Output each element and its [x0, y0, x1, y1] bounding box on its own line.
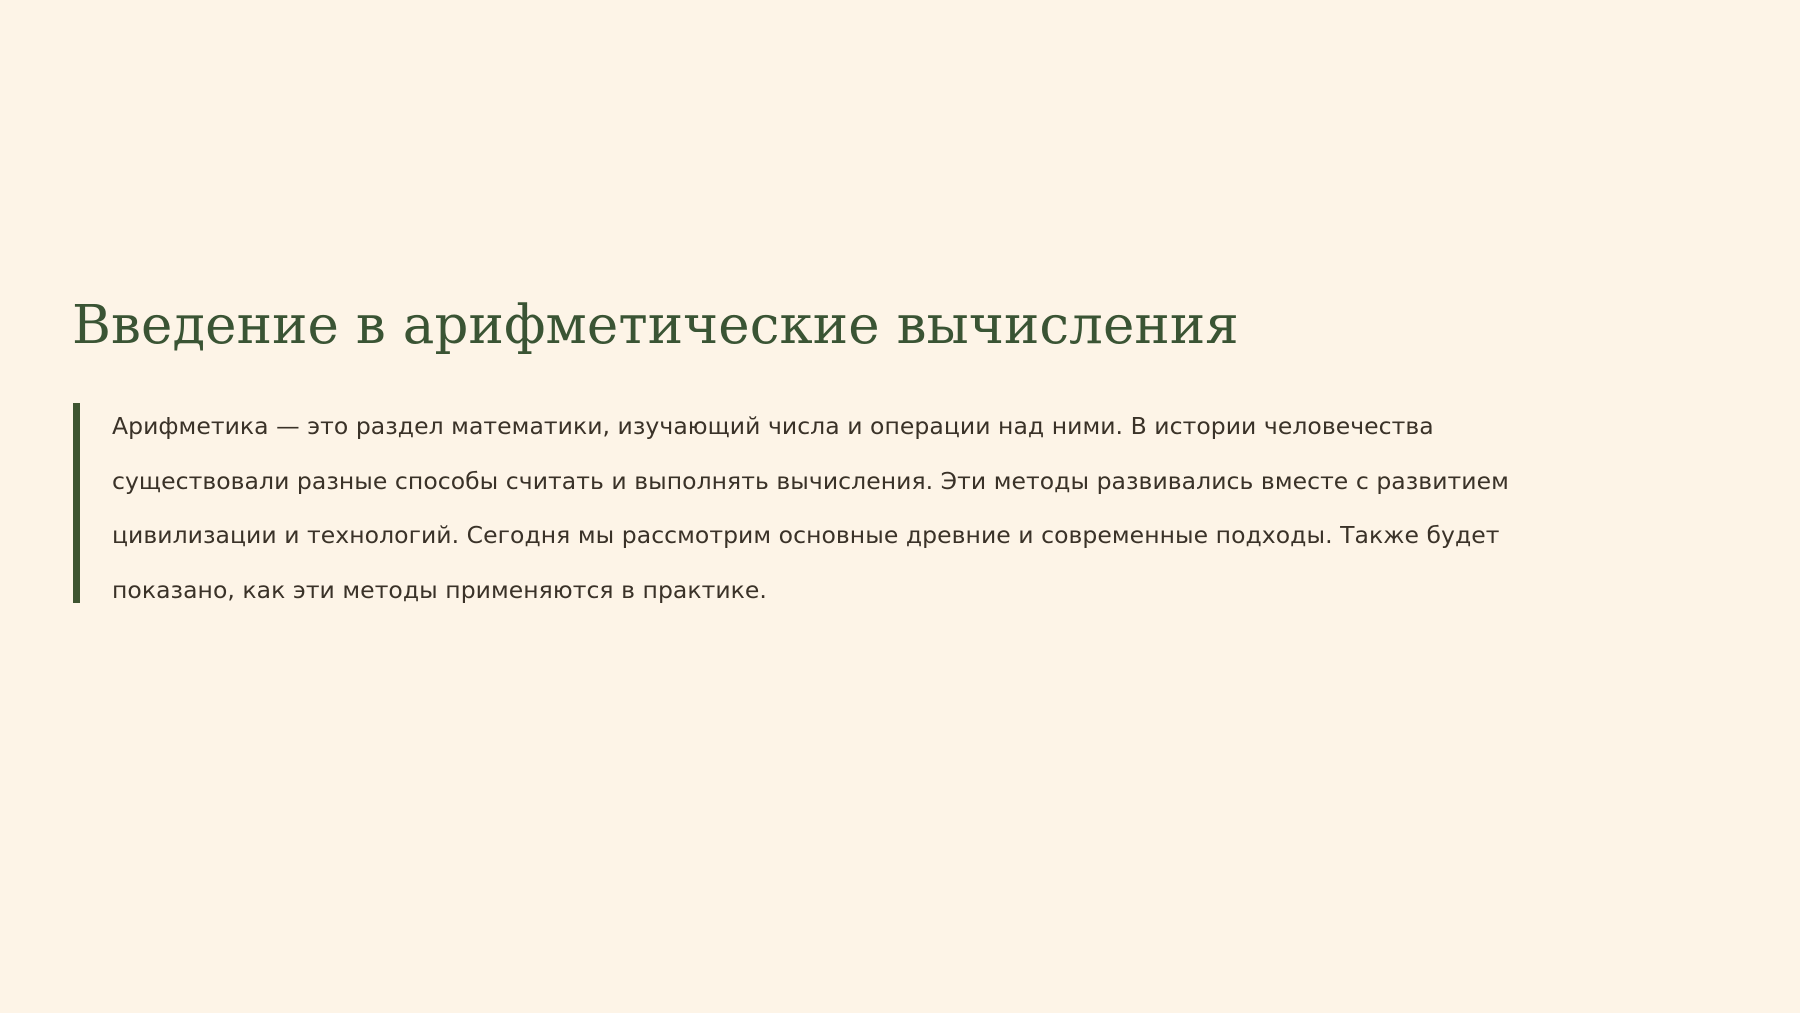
slide-content: Введение в арифметические вычисления Ари…	[72, 296, 1752, 617]
callout-block: Арифметика — это раздел математики, изуч…	[72, 399, 1752, 617]
accent-bar	[73, 403, 80, 603]
page-title: Введение в арифметические вычисления	[72, 296, 1752, 355]
callout-paragraph: Арифметика — это раздел математики, изуч…	[112, 399, 1524, 617]
slide: Введение в арифметические вычисления Ари…	[0, 0, 1800, 1013]
